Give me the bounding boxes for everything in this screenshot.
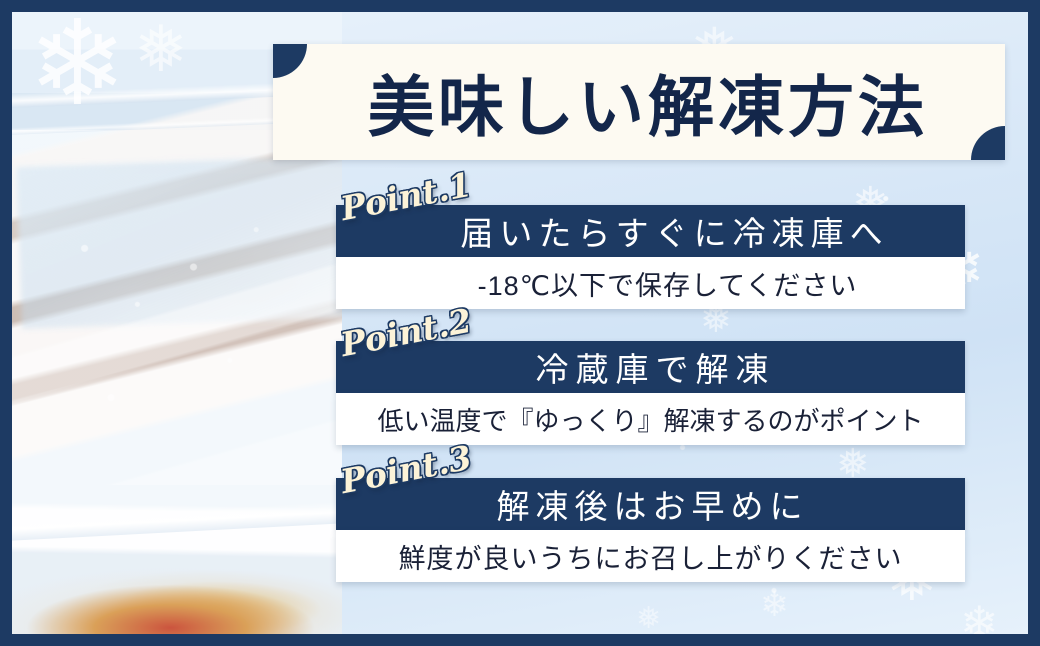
- snowflake-icon: ❄: [28, 12, 127, 122]
- page-title: 美味しい解凍方法: [273, 44, 1005, 160]
- point-1-heading: 届いたらすぐに冷凍庫へ: [412, 207, 888, 255]
- point-1-body-panel: -18℃以下で保存してください: [336, 257, 965, 309]
- poster-canvas: ❅❄❅❄❅❄❅❄❅❄❅❄ ❄ ❅ 美味しい解凍方法 Point.1 届いたらすぐ…: [12, 12, 1028, 634]
- point-2-heading: 冷蔵庫で解凍: [526, 343, 776, 391]
- point-block-3: Point.3 解凍後はお早めに 鮮度が良いうちにお召し上がりください: [336, 478, 965, 582]
- point-1-body-text: -18℃以下で保存してください: [444, 264, 858, 303]
- point-3-body-panel: 鮮度が良いうちにお召し上がりください: [336, 530, 965, 582]
- poster-frame: ❅❄❅❄❅❄❅❄❅❄❅❄ ❄ ❅ 美味しい解凍方法 Point.1 届いたらすぐ…: [0, 0, 1040, 646]
- point-2-body-text: 低い温度で『ゆっくり』解凍するのがポイント: [377, 401, 923, 438]
- title-plate: 美味しい解凍方法: [273, 44, 1005, 160]
- snowflake-icon: ❅: [636, 604, 661, 634]
- point-2-heading-bar: 冷蔵庫で解凍: [336, 341, 965, 393]
- point-block-1: Point.1 届いたらすぐに冷凍庫へ -18℃以下で保存してください: [336, 205, 965, 309]
- snowflake-icon: ❄: [760, 588, 789, 622]
- point-3-heading: 解凍後はお早めに: [493, 480, 809, 528]
- point-3-heading-bar: 解凍後はお早めに: [336, 478, 965, 530]
- point-2-body-panel: 低い温度で『ゆっくり』解凍するのがポイント: [336, 393, 965, 445]
- snowflake-icon: ❄: [960, 600, 999, 634]
- point-3-body-text: 鮮度が良いうちにお召し上がりください: [399, 537, 903, 576]
- point-1-heading-bar: 届いたらすぐに冷凍庫へ: [336, 205, 965, 257]
- point-block-2: Point.2 冷蔵庫で解凍 低い温度で『ゆっくり』解凍するのがポイント: [336, 341, 965, 445]
- snowflake-icon: ❅: [134, 18, 188, 82]
